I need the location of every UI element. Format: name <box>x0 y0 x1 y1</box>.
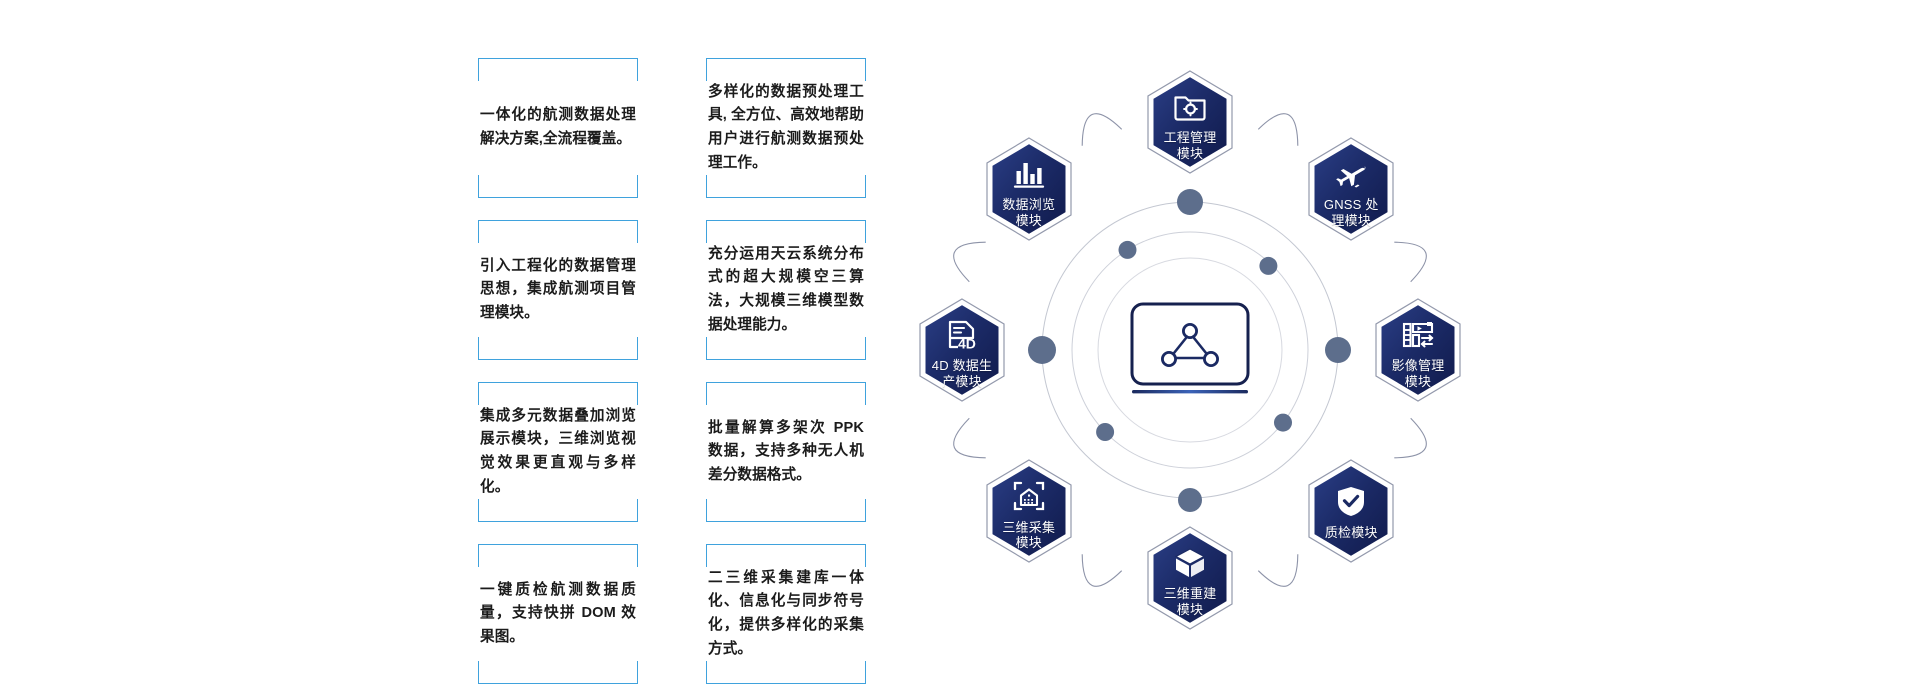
module-label-line2: 模块 <box>981 535 1077 551</box>
document-4d-icon: 4D <box>945 318 979 352</box>
bracket-bottom-icon <box>478 499 638 522</box>
bracket-top-icon <box>478 58 638 81</box>
module-node-4d-data-production[interactable]: 4D 4D 数据生 产模块 <box>914 296 1010 404</box>
feature-card-3: 引入工程化的数据管理思想，集成航测项目管理模块。 <box>478 220 638 360</box>
feature-card-7: 一键质检航测数据质量，支持快拼 DOM 效果图。 <box>478 544 638 684</box>
module-label: 三维采集 模块 <box>981 520 1077 552</box>
feature-text: 一键质检航测数据质量，支持快拼 DOM 效果图。 <box>480 579 636 650</box>
feature-card-1: 一体化的航测数据处理解决方案,全流程覆盖。 <box>478 58 638 198</box>
module-label: 三维重建 模块 <box>1142 586 1238 618</box>
bracket-top-icon <box>706 220 866 243</box>
module-node-quality-check[interactable]: 质检模块 <box>1303 457 1399 565</box>
module-label-line1: 三维采集 <box>981 520 1077 536</box>
orbit-dot <box>1028 336 1056 364</box>
module-label-line2: 模块 <box>1142 146 1238 162</box>
bracket-top-icon <box>478 382 638 405</box>
connector-arc <box>1082 114 1122 146</box>
airplane-icon <box>1334 157 1368 191</box>
orbit-dot <box>1119 241 1137 259</box>
bracket-bottom-icon <box>706 499 866 522</box>
infographic-canvas: 一体化的航测数据处理解决方案,全流程覆盖。 多样化的数据预处理工具, 全方位、高… <box>0 0 1920 700</box>
connector-arc <box>1082 554 1122 586</box>
orbit-dot <box>1096 423 1114 441</box>
folder-gear-icon <box>1173 90 1207 124</box>
module-label: 影像管理 模块 <box>1370 358 1466 390</box>
module-label-line1: 质检模块 <box>1303 525 1399 541</box>
feature-text: 二三维采集建库一体化、信息化与同步符号化，提供多样化的采集方式。 <box>708 567 864 662</box>
center-hub <box>1128 300 1252 400</box>
feature-card-6: 批量解算多架次 PPK 数据，支持多种无人机差分数据格式。 <box>706 382 866 522</box>
bar-chart-icon <box>1012 157 1046 191</box>
module-node-project-management[interactable]: 工程管理 模块 <box>1142 68 1238 176</box>
bracket-bottom-icon <box>478 337 638 360</box>
module-label-line1: 4D 数据生 <box>914 358 1010 374</box>
shield-check-icon <box>1334 484 1368 518</box>
feature-card-8: 二三维采集建库一体化、信息化与同步符号化，提供多样化的采集方式。 <box>706 544 866 684</box>
orbit-dot <box>1178 488 1202 512</box>
feature-text: 集成多元数据叠加浏览展示模块，三维浏览视觉效果更直观与多样化。 <box>480 405 636 500</box>
module-label-line2: 模块 <box>1142 602 1238 618</box>
feature-text: 充分运用天云系统分布式的超大规模空三算法，大规模三维模型数据处理能力。 <box>708 243 864 338</box>
module-label: 数据浏览 模块 <box>981 197 1077 229</box>
module-label-line2: 理模块 <box>1303 213 1399 229</box>
module-label-line2: 模块 <box>1370 374 1466 390</box>
connector-arc <box>954 418 986 458</box>
network-monitor-icon <box>1128 300 1252 400</box>
module-label-line1: GNSS 处 <box>1303 197 1399 213</box>
module-node-image-management[interactable]: 影像管理 模块 <box>1370 296 1466 404</box>
bracket-bottom-icon <box>478 175 638 198</box>
feature-text: 一体化的航测数据处理解决方案,全流程覆盖。 <box>480 104 636 151</box>
feature-card-2: 多样化的数据预处理工具, 全方位、高效地帮助用户进行航测数据预处理工作。 <box>706 58 866 198</box>
connector-arc <box>954 242 986 282</box>
bracket-bottom-icon <box>478 661 638 684</box>
module-label: 工程管理 模块 <box>1142 130 1238 162</box>
bracket-top-icon <box>478 220 638 243</box>
module-label-line1: 工程管理 <box>1142 130 1238 146</box>
cube-3d-icon <box>1173 546 1207 580</box>
module-node-gnss-processing[interactable]: GNSS 处 理模块 <box>1303 135 1399 243</box>
feature-text: 引入工程化的数据管理思想，集成航测项目管理模块。 <box>480 255 636 326</box>
connector-arc <box>1394 242 1426 282</box>
module-label-line1: 三维重建 <box>1142 586 1238 602</box>
connector-arc <box>1258 114 1298 146</box>
bracket-top-icon <box>706 382 866 405</box>
feature-card-4: 充分运用天云系统分布式的超大规模空三算法，大规模三维模型数据处理能力。 <box>706 220 866 360</box>
connector-arc <box>1394 418 1426 458</box>
module-label: 4D 数据生 产模块 <box>914 358 1010 390</box>
film-media-icon <box>1401 318 1435 352</box>
feature-text: 批量解算多架次 PPK 数据，支持多种无人机差分数据格式。 <box>708 417 864 488</box>
bracket-bottom-icon <box>706 661 866 684</box>
feature-text: 多样化的数据预处理工具, 全方位、高效地帮助用户进行航测数据预处理工作。 <box>708 81 864 176</box>
module-label: 质检模块 <box>1303 525 1399 541</box>
orbit-dot <box>1259 257 1277 275</box>
module-label: GNSS 处 理模块 <box>1303 197 1399 229</box>
scan-building-icon <box>1012 479 1046 513</box>
module-node-3d-collection[interactable]: 三维采集 模块 <box>981 457 1077 565</box>
module-label-line1: 影像管理 <box>1370 358 1466 374</box>
bracket-top-icon <box>478 544 638 567</box>
orbit-dot <box>1274 414 1292 432</box>
bracket-top-icon <box>706 544 866 567</box>
bracket-bottom-icon <box>706 175 866 198</box>
bracket-bottom-icon <box>706 337 866 360</box>
module-label-line1: 数据浏览 <box>981 197 1077 213</box>
svg-text:4D: 4D <box>958 336 976 352</box>
bracket-top-icon <box>706 58 866 81</box>
module-node-3d-reconstruction[interactable]: 三维重建 模块 <box>1142 524 1238 632</box>
orbit-dot <box>1177 189 1203 215</box>
module-wheel: 工程管理 模块 GNSS 处 理模块 <box>890 20 1490 680</box>
feature-card-5: 集成多元数据叠加浏览展示模块，三维浏览视觉效果更直观与多样化。 <box>478 382 638 522</box>
connector-arc <box>1258 554 1298 586</box>
module-label-line2: 产模块 <box>914 374 1010 390</box>
orbit-dot <box>1325 337 1351 363</box>
module-node-data-browse[interactable]: 数据浏览 模块 <box>981 135 1077 243</box>
module-label-line2: 模块 <box>981 213 1077 229</box>
feature-card-grid: 一体化的航测数据处理解决方案,全流程覆盖。 多样化的数据预处理工具, 全方位、高… <box>478 58 898 658</box>
